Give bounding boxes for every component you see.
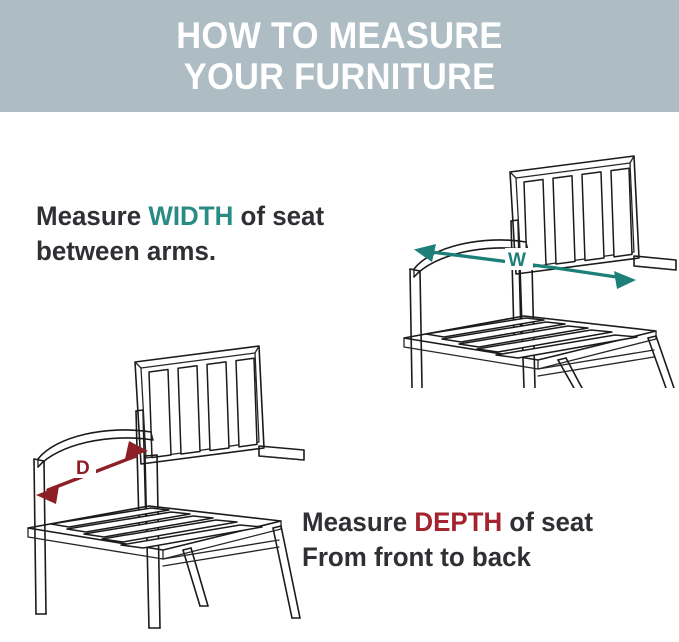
depth-text-after: of seat bbox=[502, 507, 593, 537]
depth-instruction-text: Measure DEPTH of seat From front to back bbox=[302, 505, 593, 574]
width-instruction-line-2: between arms. bbox=[36, 234, 324, 269]
header-title-line-1: HOW TO MEASURE bbox=[176, 15, 502, 56]
width-instruction-line-1: Measure WIDTH of seat bbox=[36, 199, 324, 234]
depth-instruction-line-1: Measure DEPTH of seat bbox=[302, 505, 593, 540]
width-chair-svg: W bbox=[398, 138, 679, 388]
header-title-line-2: YOUR FURNITURE bbox=[184, 56, 496, 97]
width-chair-diagram: W bbox=[398, 138, 679, 388]
depth-text-before: Measure bbox=[302, 507, 414, 537]
depth-dimension-label: D bbox=[76, 458, 90, 479]
width-text-after: of seat bbox=[233, 201, 324, 231]
depth-chair-diagram: D bbox=[18, 328, 308, 642]
depth-instruction-line-2: From front to back bbox=[302, 540, 593, 575]
width-dimension-label: W bbox=[508, 250, 526, 271]
width-text-before: Measure bbox=[36, 201, 148, 231]
width-keyword: WIDTH bbox=[148, 201, 233, 231]
width-instruction-text: Measure WIDTH of seat between arms. bbox=[36, 199, 324, 268]
how-to-measure-infographic: HOW TO MEASURE YOUR FURNITURE Measure WI… bbox=[0, 0, 679, 642]
depth-keyword: DEPTH bbox=[414, 507, 502, 537]
depth-chair-svg: D bbox=[18, 328, 308, 642]
header-banner: HOW TO MEASURE YOUR FURNITURE bbox=[0, 0, 679, 112]
depth-dimension-arrow: D bbox=[36, 441, 148, 504]
